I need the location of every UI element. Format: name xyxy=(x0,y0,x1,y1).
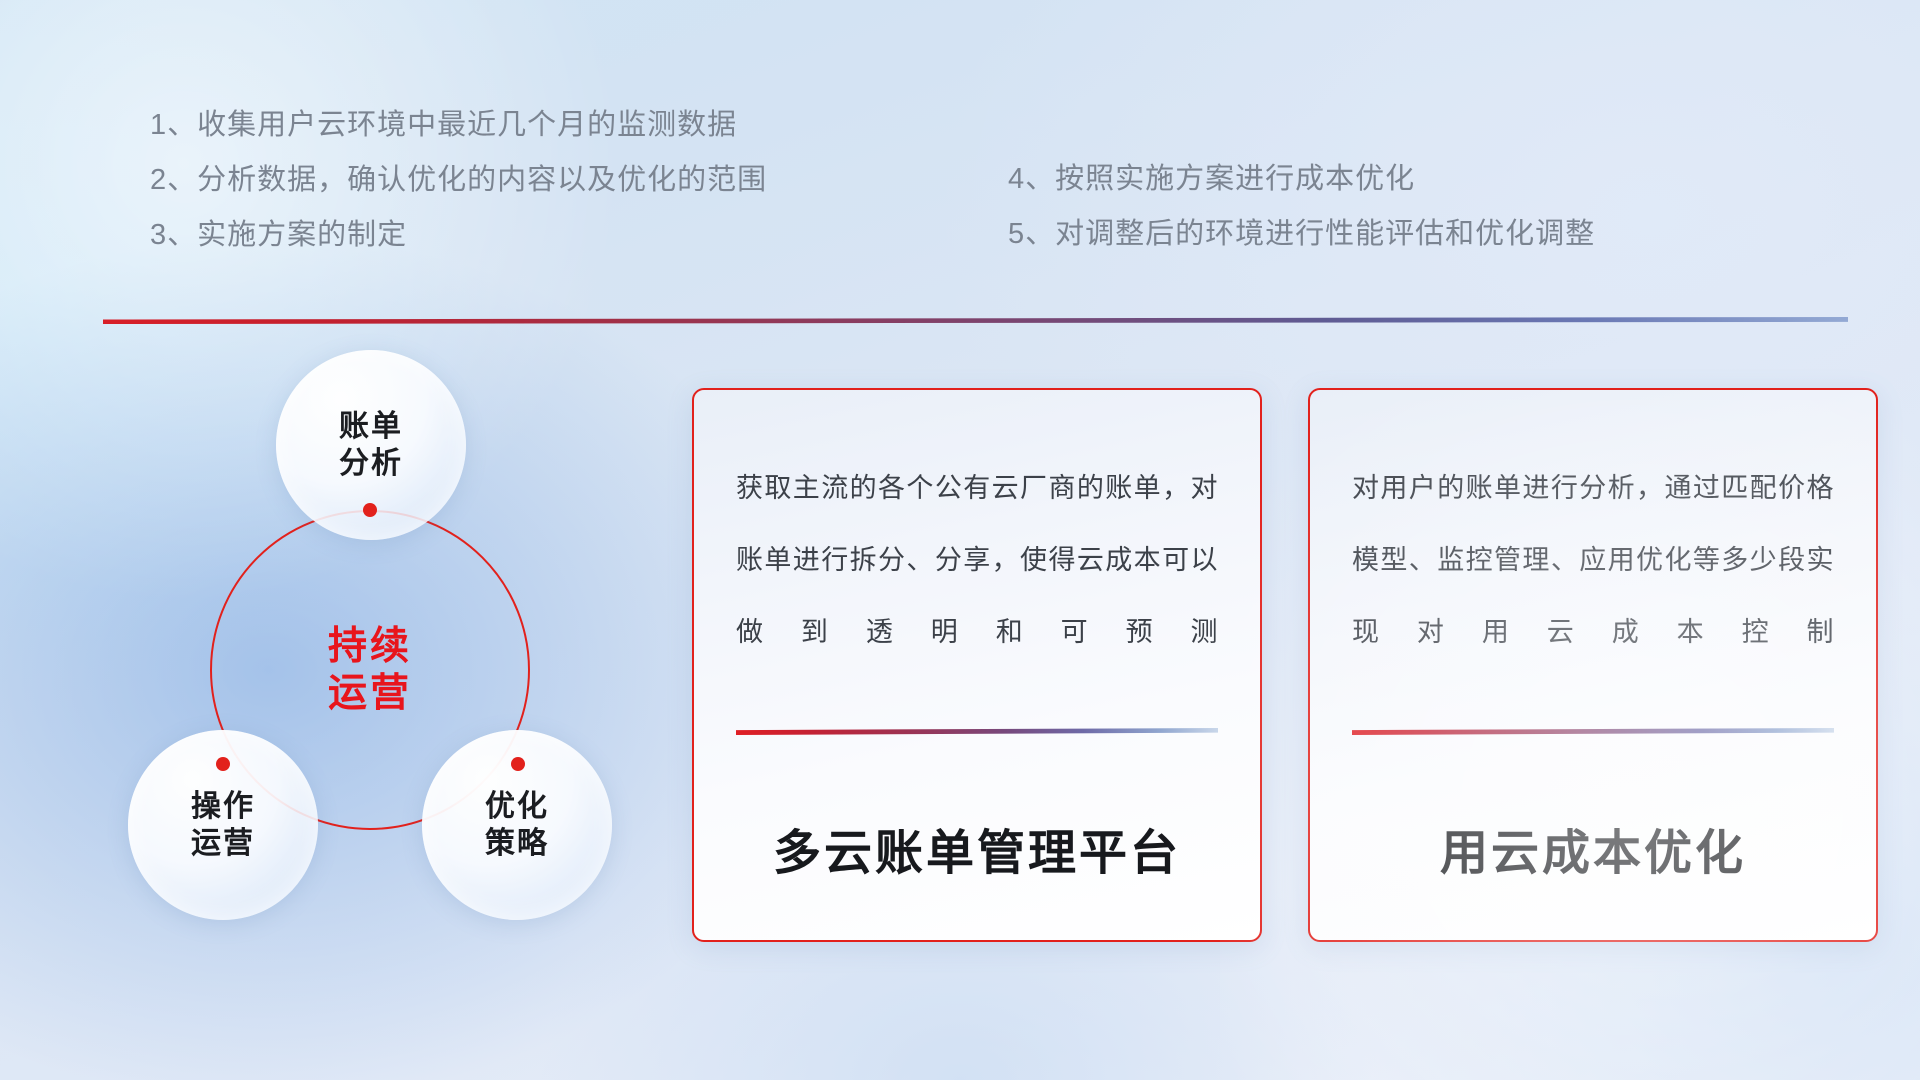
feature-card-cloud-cost-optimization[interactable]: 对用户的账单进行分析，通过匹配价格模型、监控管理、应用优化等多少段实现对用云成本… xyxy=(1308,388,1878,942)
steps-left-column: 1、收集用户云环境中最近几个月的监测数据 2、分析数据，确认优化的内容以及优化的… xyxy=(150,98,767,263)
step-item: 3、实施方案的制定 xyxy=(150,208,767,263)
cycle-node-label-line2: 策略 xyxy=(485,825,549,862)
cycle-node-label-line1: 账单 xyxy=(339,408,403,445)
step-item: 1、收集用户云环境中最近几个月的监测数据 xyxy=(150,98,767,153)
cycle-node-label-line2: 分析 xyxy=(339,445,403,482)
feature-card-divider xyxy=(1352,728,1834,735)
cycle-node-label-line1: 操作 xyxy=(191,788,255,825)
steps-right-column: 4、按照实施方案进行成本优化 5、对调整后的环境进行性能评估和优化调整 xyxy=(1008,152,1595,262)
cycle-node-label-line2: 运营 xyxy=(191,825,255,862)
cycle-center-line1: 持续 xyxy=(328,623,412,670)
feature-card-body: 对用户的账单进行分析，通过匹配价格模型、监控管理、应用优化等多少段实现对用云成本… xyxy=(1352,452,1834,714)
cycle-node-label-line1: 优化 xyxy=(485,788,549,825)
feature-card-multicloud-billing[interactable]: 获取主流的各个公有云厂商的账单，对账单进行拆分、分享，使得云成本可以做到透明和可… xyxy=(692,388,1262,942)
cycle-center-line2: 运营 xyxy=(328,670,412,717)
step-item: 5、对调整后的环境进行性能评估和优化调整 xyxy=(1008,207,1595,262)
step-item: 4、按照实施方案进行成本优化 xyxy=(1008,152,1595,207)
feature-card-title: 用云成本优化 xyxy=(1352,813,1834,883)
cycle-node-dot-icon xyxy=(363,503,377,517)
cycle-diagram: 持续 运营 账单 分析 操作 运营 优化 策略 xyxy=(100,350,640,950)
feature-card-body: 获取主流的各个公有云厂商的账单，对账单进行拆分、分享，使得云成本可以做到透明和可… xyxy=(736,452,1218,714)
step-item: 2、分析数据，确认优化的内容以及优化的范围 xyxy=(150,153,767,208)
cycle-node-dot-icon xyxy=(216,757,230,771)
feature-card-title: 多云账单管理平台 xyxy=(736,813,1218,883)
slide-canvas: 1、收集用户云环境中最近几个月的监测数据 2、分析数据，确认优化的内容以及优化的… xyxy=(0,0,1920,1080)
feature-card-divider xyxy=(736,728,1218,735)
cycle-node-dot-icon xyxy=(511,757,525,771)
section-divider-rule xyxy=(103,317,1848,324)
